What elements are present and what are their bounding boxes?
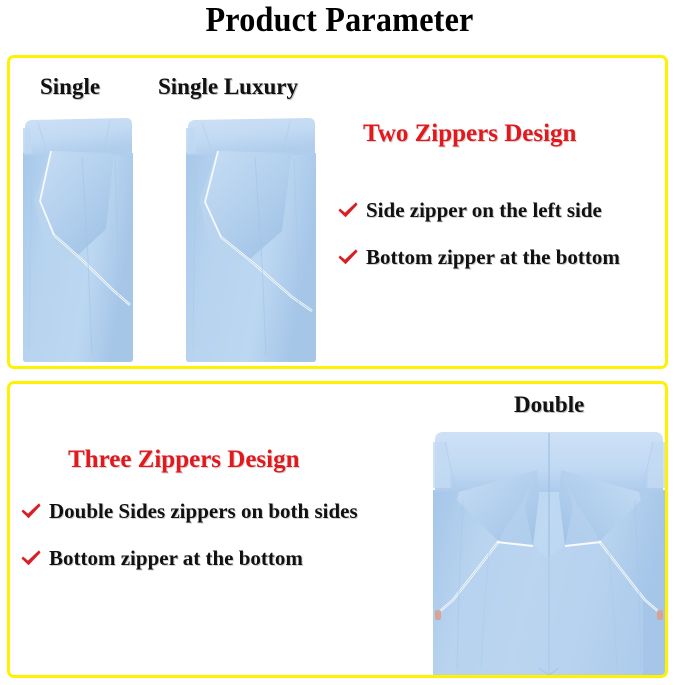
red-check-icon xyxy=(20,548,42,570)
page-title: Product Parameter xyxy=(27,0,652,42)
bullet-bottom-zipper: Bottom zipper at the bottom xyxy=(20,546,303,571)
bed-label-double: Double xyxy=(514,392,584,418)
bed-sheet-single-icon xyxy=(18,109,138,364)
bullet-text: Bottom zipper at the bottom xyxy=(49,546,303,571)
bed-sheet-single-luxury-icon xyxy=(180,109,321,364)
red-check-icon xyxy=(337,247,359,269)
heading-three-zippers-design: Three Zippers Design xyxy=(68,446,300,474)
panel-three-zippers-design: Double Three Zippers Design Double Sides… xyxy=(7,381,668,678)
bed-sheet-double-icon xyxy=(429,420,668,678)
bed-label-single: Single xyxy=(40,74,100,100)
bullet-bottom-zipper: Bottom zipper at the bottom xyxy=(337,245,620,270)
bullet-text: Double Sides zippers on both sides xyxy=(49,499,358,524)
panel-two-zippers-design: Single Single Luxury Two Zippers Design … xyxy=(7,55,668,369)
red-check-icon xyxy=(20,501,42,523)
bullet-side-zipper-left: Side zipper on the left side xyxy=(337,198,602,223)
red-check-icon xyxy=(337,200,359,222)
bullet-text: Side zipper on the left side xyxy=(366,198,602,223)
heading-two-zippers-design: Two Zippers Design xyxy=(363,120,576,148)
bullet-double-sides-zippers: Double Sides zippers on both sides xyxy=(20,499,358,524)
bed-label-single-luxury: Single Luxury xyxy=(158,74,298,100)
bullet-text: Bottom zipper at the bottom xyxy=(366,245,620,270)
